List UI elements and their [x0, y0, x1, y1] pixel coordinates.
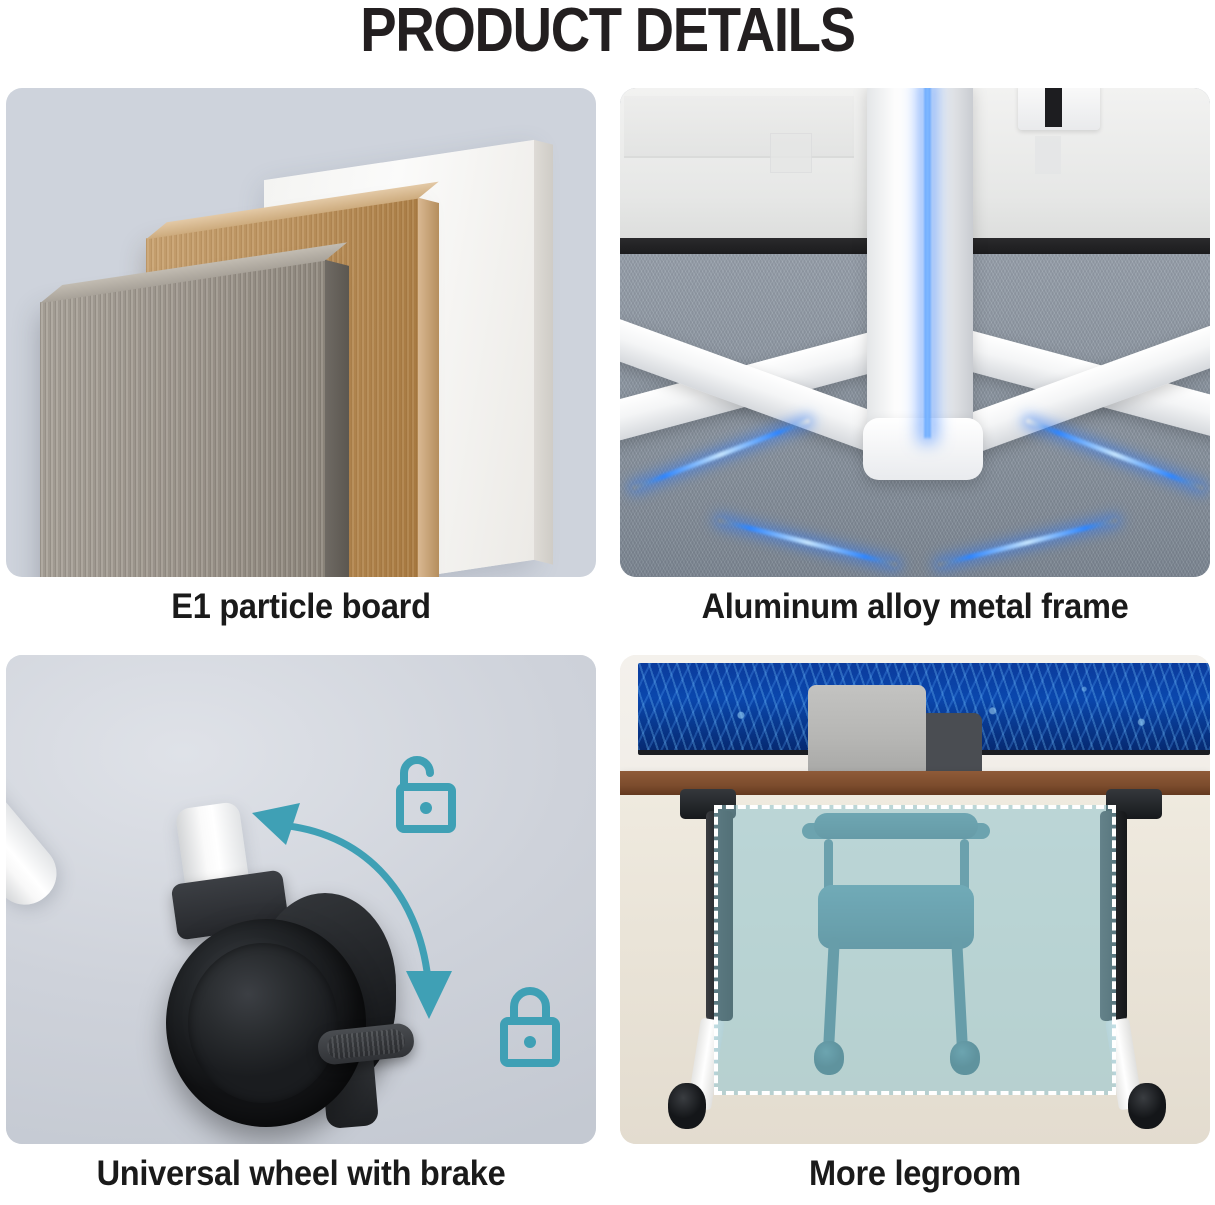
more-legroom-photo	[620, 655, 1210, 1144]
particle-board-photo	[6, 88, 596, 577]
far-chair-back	[920, 713, 982, 775]
gray-board-edge	[325, 260, 349, 577]
panel-metal-frame: Aluminum alloy metal frame	[620, 88, 1210, 627]
metal-frame-photo	[620, 88, 1210, 577]
page-title: PRODUCT DETAILS	[73, 0, 1142, 76]
oak-board-edge	[418, 198, 439, 577]
lock-icon	[492, 985, 568, 1071]
caption-metal-frame: Aluminum alloy metal frame	[641, 587, 1190, 627]
wall-box-secondary	[1035, 136, 1061, 174]
panel-universal-wheel: Universal wheel with brake	[6, 655, 596, 1194]
desk-caster-right	[1128, 1083, 1166, 1129]
frame-center-post	[867, 88, 973, 438]
panel-particle-board: E1 particle board	[6, 88, 596, 627]
product-details-grid: E1 particle board Aluminum all	[6, 88, 1210, 1198]
legroom-highlight-area	[714, 805, 1116, 1095]
post-blue-glow	[923, 88, 932, 438]
gray-board	[40, 260, 325, 577]
panel-more-legroom: More legroom	[620, 655, 1210, 1194]
wall-panel	[624, 96, 854, 158]
unlock-icon	[384, 753, 460, 839]
desk-caster-left	[668, 1083, 706, 1129]
caption-universal-wheel: Universal wheel with brake	[27, 1154, 576, 1194]
wall-box	[770, 133, 812, 173]
caption-more-legroom: More legroom	[641, 1154, 1190, 1194]
wall-device-dark-band	[1045, 88, 1062, 127]
laptop	[808, 685, 926, 773]
caption-particle-board: E1 particle board	[27, 587, 576, 627]
white-board-edge	[534, 140, 553, 565]
universal-wheel-photo	[6, 655, 596, 1144]
